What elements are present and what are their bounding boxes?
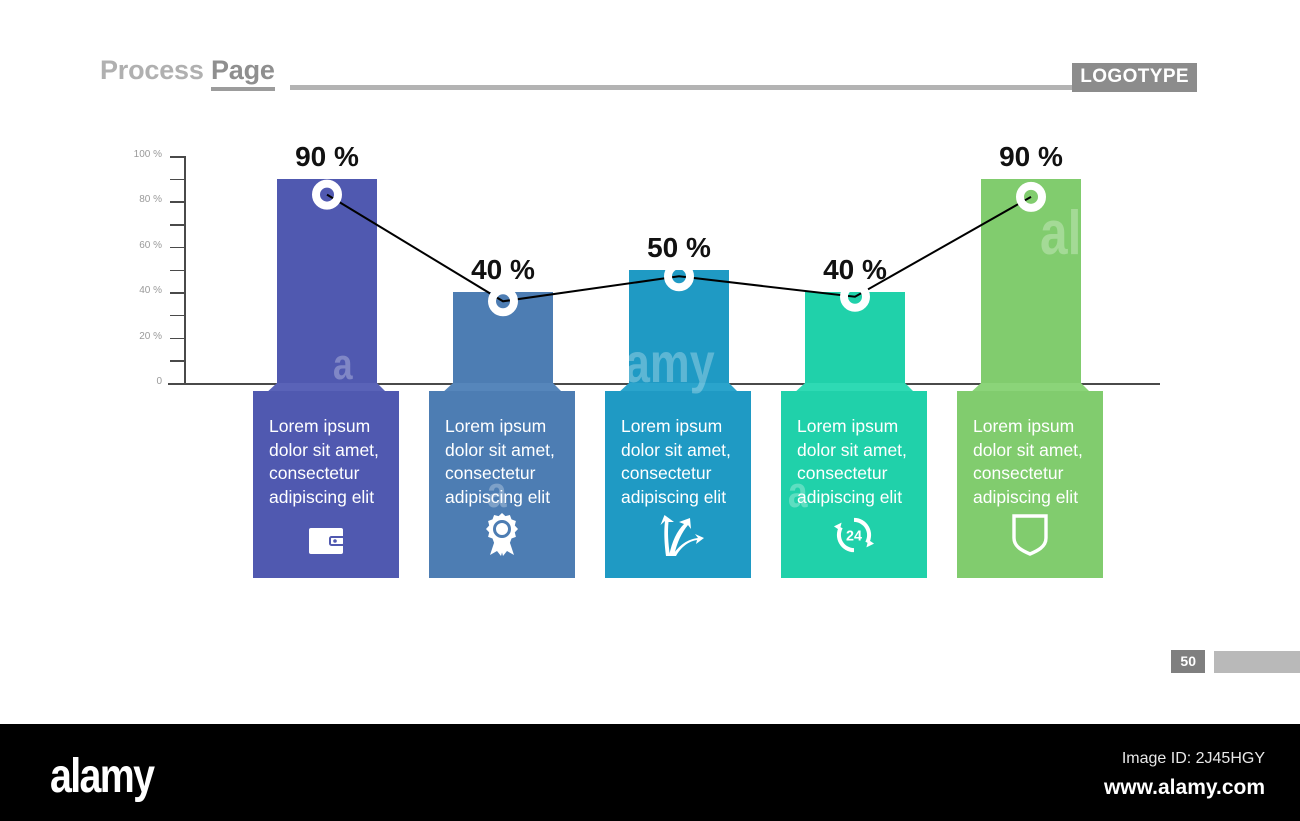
y-axis-tick-label: 0 — [120, 376, 162, 387]
bar-4[interactable] — [805, 292, 905, 383]
alamy-logo: alamy — [50, 749, 153, 804]
value-label-1: 90 % — [247, 141, 407, 173]
y-axis-spine — [184, 156, 186, 383]
panel-description-5: Lorem ipsum dolor sit amet, consectetur … — [973, 415, 1089, 510]
panel-description-1: Lorem ipsum dolor sit amet, consectetur … — [269, 415, 385, 510]
process-step-panel-5[interactable]: Lorem ipsum dolor sit amet, consectetur … — [957, 391, 1103, 578]
award-ribbon-icon — [429, 512, 575, 556]
bar-5[interactable] — [981, 179, 1081, 383]
bar-2[interactable] — [453, 292, 553, 383]
wallet-icon — [253, 526, 399, 556]
panel-description-3: Lorem ipsum dolor sit amet, consectetur … — [621, 415, 737, 510]
page-bar-decoration — [1214, 651, 1300, 673]
y-axis-tick-label: 20 % — [120, 331, 162, 342]
process-step-panel-1[interactable]: Lorem ipsum dolor sit amet, consectetur … — [253, 391, 399, 578]
value-label-3: 50 % — [599, 232, 759, 264]
slide-canvas: Process Page LOGOTYPE 100 %80 %60 %40 %2… — [0, 0, 1300, 700]
bar-3[interactable] — [629, 270, 729, 384]
diverging-arrows-icon — [605, 514, 751, 556]
process-step-panel-4[interactable]: Lorem ipsum dolor sit amet, consectetur … — [781, 391, 927, 578]
y-axis-tick-label: 40 % — [120, 285, 162, 296]
panel-description-4: Lorem ipsum dolor sit amet, consectetur … — [797, 415, 913, 510]
shield-icon — [957, 514, 1103, 556]
twenty-four-hours-icon: 24 — [781, 514, 927, 556]
image-id-text: Image ID: 2J45HGY — [1122, 750, 1265, 768]
process-bar-chart: 100 %80 %60 %40 %20 %0 Lorem ipsum dolor… — [0, 0, 1300, 700]
panel-description-2: Lorem ipsum dolor sit amet, consectetur … — [445, 415, 561, 510]
value-label-2: 40 % — [423, 254, 583, 286]
process-step-panel-3[interactable]: Lorem ipsum dolor sit amet, consectetur … — [605, 391, 751, 578]
svg-text:24: 24 — [846, 529, 862, 545]
value-label-5: 90 % — [951, 141, 1111, 173]
page-number-badge: 50 — [1171, 650, 1205, 673]
alamy-website-text: www.alamy.com — [1104, 776, 1265, 800]
y-axis-tick-label: 60 % — [120, 240, 162, 251]
value-label-4: 40 % — [775, 254, 935, 286]
alamy-footer: alamy Image ID: 2J45HGY www.alamy.com — [0, 724, 1300, 821]
bar-1[interactable] — [277, 179, 377, 383]
y-axis-tick-label: 80 % — [120, 194, 162, 205]
footer-white-gap — [0, 700, 1300, 724]
process-step-panel-2[interactable]: Lorem ipsum dolor sit amet, consectetur … — [429, 391, 575, 578]
y-axis-tick-label: 100 % — [120, 149, 162, 160]
